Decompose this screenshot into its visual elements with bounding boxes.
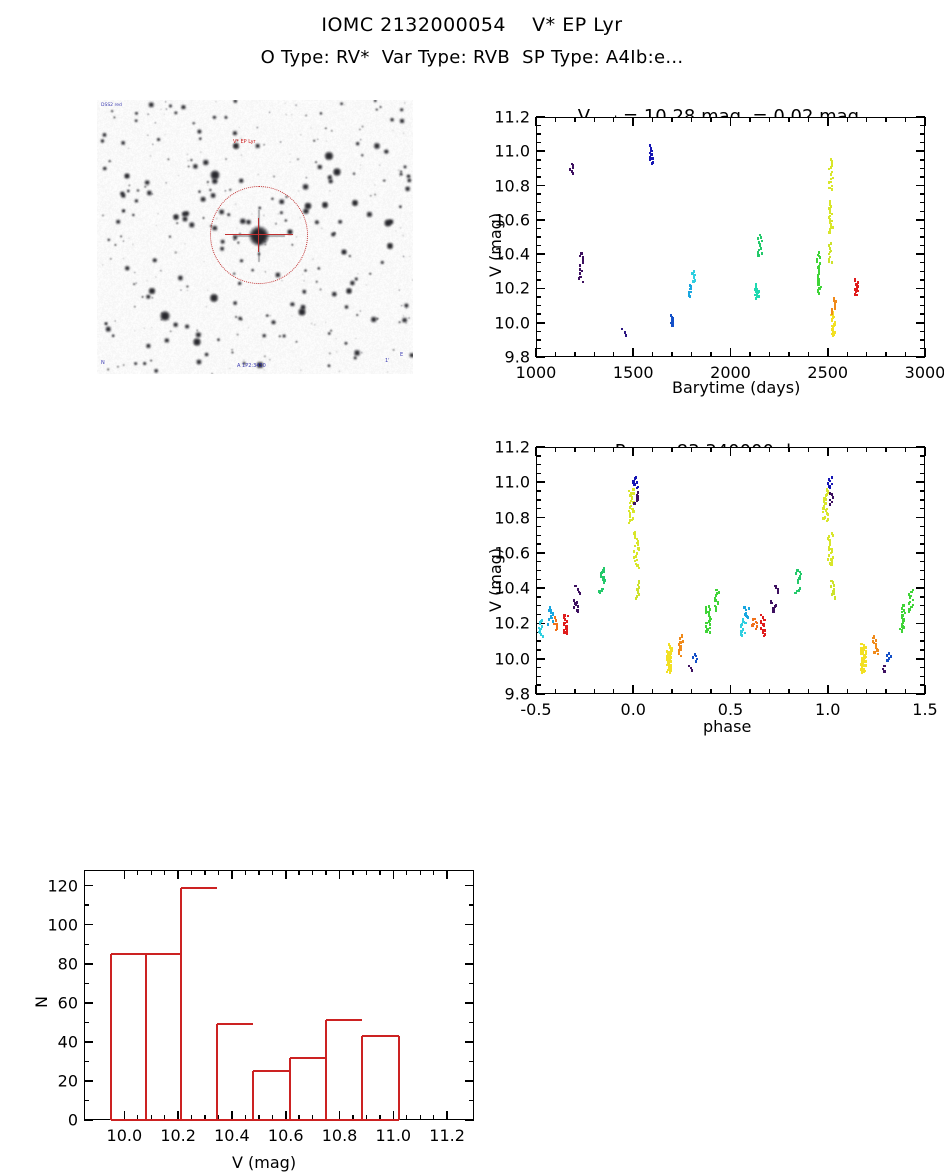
x-tick-minor (555, 689, 556, 694)
y-tick-label: 10.2 (470, 614, 530, 633)
y-tick-major (536, 517, 545, 519)
data-point (637, 540, 639, 543)
data-point (877, 653, 879, 656)
data-point (628, 490, 630, 493)
data-point (829, 492, 831, 495)
y-tick-minor-right (920, 168, 925, 169)
data-point (630, 505, 632, 508)
x-tick-major-top (285, 870, 287, 879)
histogram-bin-edge (145, 954, 147, 1120)
data-point (748, 607, 750, 610)
data-point (565, 625, 567, 628)
data-point (554, 616, 556, 619)
y-tick-major (84, 924, 93, 926)
phase-panel: PVSX = 83.340000 days phase V (mag) -0.5… (470, 420, 944, 747)
data-point (904, 612, 906, 615)
data-point (579, 255, 581, 258)
y-tick-major (84, 1002, 93, 1004)
y-tick-label: 60 (18, 993, 78, 1012)
data-point (670, 314, 672, 317)
data-point (636, 559, 638, 562)
y-tick-minor-right (920, 649, 925, 650)
data-point (829, 247, 831, 250)
x-tick-minor-top (691, 117, 692, 122)
data-point (829, 499, 831, 502)
x-tick-minor-top (245, 870, 246, 875)
data-point (580, 252, 582, 255)
data-point (742, 621, 744, 624)
x-tick-minor-top (652, 117, 653, 122)
sky-image-panel: V* EP Lyr DSS2 red A 1P2:3430 N E 1' (97, 100, 413, 374)
x-tick-minor (671, 689, 672, 694)
data-point (875, 643, 877, 646)
y-tick-major-right (465, 924, 474, 926)
data-point (829, 181, 831, 184)
y-tick-minor (536, 202, 541, 203)
x-tick-label: 10.2 (160, 1126, 196, 1145)
data-point (670, 668, 672, 671)
x-tick-major-top (632, 117, 634, 126)
x-tick-minor-top (788, 117, 789, 122)
data-point (826, 508, 828, 511)
data-point (819, 262, 821, 265)
y-tick-minor-right (920, 464, 925, 465)
data-point (696, 658, 698, 661)
y-tick-minor-right (920, 125, 925, 126)
x-tick-minor (594, 689, 595, 694)
data-point (832, 496, 834, 499)
y-tick-minor-right (920, 535, 925, 536)
data-point (912, 599, 914, 602)
data-point (705, 609, 707, 612)
data-point (816, 260, 818, 263)
data-point (637, 491, 639, 494)
data-point (830, 250, 832, 253)
y-tick-minor-right (920, 667, 925, 668)
y-tick-label: 10.4 (470, 579, 530, 598)
y-tick-major (536, 481, 545, 483)
data-point (649, 144, 651, 147)
data-point (550, 611, 552, 614)
histogram-bin-top (217, 1023, 253, 1025)
y-tick-label: 40 (18, 1032, 78, 1051)
y-tick-minor-right (920, 676, 925, 677)
data-point (569, 168, 571, 171)
x-tick-label: 10.8 (322, 1126, 358, 1145)
data-point (553, 623, 555, 626)
data-point (638, 586, 640, 589)
x-tick-minor-top (866, 117, 867, 122)
y-tick-label: 10.6 (470, 543, 530, 562)
data-point (831, 171, 833, 174)
x-tick-major-top (231, 870, 233, 879)
data-point (579, 264, 581, 267)
x-tick-minor-top (379, 870, 380, 875)
y-tick-major (536, 356, 545, 358)
y-tick-minor (536, 614, 541, 615)
data-point (755, 621, 757, 624)
data-point (636, 481, 638, 484)
x-tick-label: 3000 (905, 363, 944, 382)
x-tick-major (730, 685, 732, 694)
data-point (883, 670, 885, 673)
data-point (770, 600, 772, 603)
x-tick-major (827, 348, 829, 357)
x-tick-major (446, 1111, 448, 1120)
data-point (827, 482, 829, 485)
data-point (828, 207, 830, 210)
x-tick-major-top (393, 870, 395, 879)
y-tick-minor (84, 944, 89, 945)
data-point (549, 606, 551, 609)
y-tick-major (536, 116, 545, 118)
phase-xlabel: phase (703, 717, 751, 736)
y-tick-minor (536, 168, 541, 169)
data-point (688, 295, 690, 298)
data-point (718, 591, 720, 594)
data-point (831, 163, 833, 166)
y-tick-minor-right (920, 176, 925, 177)
x-tick-major-top (446, 870, 448, 879)
y-tick-major (536, 552, 545, 554)
histogram-bin-edge (180, 888, 182, 1120)
x-tick-minor-top (749, 117, 750, 122)
data-point (817, 277, 819, 280)
data-point (832, 590, 834, 593)
data-point (831, 261, 833, 264)
data-point (629, 494, 631, 497)
data-point (652, 161, 654, 164)
x-tick-minor-top (312, 870, 313, 875)
x-tick-minor (905, 352, 906, 357)
y-tick-major (536, 253, 545, 255)
histogram-bin-top (362, 1035, 398, 1037)
histogram-bin-top (253, 1070, 289, 1072)
x-tick-minor (749, 689, 750, 694)
x-tick-minor (433, 1115, 434, 1120)
data-point (857, 281, 859, 284)
x-tick-minor-top (191, 870, 192, 875)
data-point (651, 157, 653, 160)
x-tick-minor (555, 352, 556, 357)
data-point (633, 550, 635, 553)
y-tick-minor (536, 640, 541, 641)
data-point (602, 579, 604, 582)
data-point (541, 625, 543, 628)
data-point (831, 220, 833, 223)
y-tick-major-right (916, 253, 925, 255)
data-point (578, 591, 580, 594)
data-point (875, 639, 877, 642)
data-point (579, 272, 581, 275)
data-point (901, 614, 903, 617)
data-point (830, 580, 832, 583)
y-tick-minor (536, 331, 541, 332)
histogram-baseline (111, 1119, 399, 1121)
x-tick-minor-top (691, 447, 692, 452)
data-point (576, 601, 578, 604)
data-point (582, 256, 584, 259)
sky-bottom-label: A 1P2:3430 (237, 363, 266, 369)
data-point (834, 307, 836, 310)
data-point (709, 631, 711, 634)
data-point (741, 623, 743, 626)
data-point (830, 242, 832, 245)
data-point (762, 616, 764, 619)
y-tick-major-right (916, 322, 925, 324)
data-point (635, 555, 637, 558)
data-point (901, 623, 903, 626)
x-tick-major-top (177, 870, 179, 879)
data-point (864, 661, 866, 664)
y-tick-minor (536, 193, 541, 194)
x-tick-minor-top (258, 870, 259, 875)
y-tick-minor (536, 605, 541, 606)
y-tick-minor-right (920, 640, 925, 641)
data-point (563, 616, 565, 619)
x-tick-minor-top (574, 117, 575, 122)
data-point (831, 185, 833, 188)
data-point (755, 283, 757, 286)
y-tick-minor-right (920, 499, 925, 500)
x-tick-minor (905, 689, 906, 694)
x-tick-minor-top (151, 870, 152, 875)
x-tick-minor-top (574, 447, 575, 452)
data-point (708, 613, 710, 616)
x-tick-minor (613, 352, 614, 357)
x-tick-minor (652, 689, 653, 694)
x-tick-minor-top (420, 870, 421, 875)
data-point (830, 548, 832, 551)
x-tick-minor-top (885, 447, 886, 452)
data-point (860, 643, 862, 646)
data-point (556, 626, 558, 629)
histogram-xlabel: V (mag) (232, 1153, 296, 1172)
data-point (579, 268, 581, 271)
x-tick-major-top (632, 447, 634, 456)
x-tick-minor (808, 689, 809, 694)
data-point (817, 274, 819, 277)
data-point (632, 492, 634, 495)
y-tick-minor (536, 313, 541, 314)
x-tick-label: 0.5 (718, 700, 743, 719)
data-point (624, 331, 626, 334)
y-tick-minor-right (920, 142, 925, 143)
data-point (601, 588, 603, 591)
y-tick-major (536, 658, 545, 660)
histogram-bin-edge (398, 1036, 400, 1120)
x-tick-label: 0.0 (621, 700, 646, 719)
data-point (540, 628, 542, 631)
data-point (714, 597, 716, 600)
data-point (762, 623, 764, 626)
x-tick-minor-top (298, 870, 299, 875)
y-tick-major-right (916, 185, 925, 187)
data-point (827, 518, 829, 521)
y-tick-minor-right (920, 526, 925, 527)
data-point (689, 284, 691, 287)
data-point (833, 297, 835, 300)
y-tick-label: 11.0 (470, 473, 530, 492)
y-tick-major-right (916, 552, 925, 554)
x-tick-minor-top (352, 870, 353, 875)
data-point (757, 251, 759, 254)
y-tick-major-right (916, 587, 925, 589)
data-point (760, 627, 762, 630)
x-tick-label: 2000 (710, 363, 751, 382)
data-point (636, 538, 638, 541)
y-tick-minor-right (920, 543, 925, 544)
data-point (694, 274, 696, 277)
data-point (705, 625, 707, 628)
data-point (820, 286, 822, 289)
sky-target-label: V* EP Lyr (233, 139, 256, 145)
data-point (774, 585, 776, 588)
y-tick-minor (536, 228, 541, 229)
data-point (632, 488, 634, 491)
data-point (829, 218, 831, 221)
y-tick-major (84, 1080, 93, 1082)
data-point (625, 334, 627, 337)
y-tick-major-right (465, 1080, 474, 1082)
x-tick-minor-top (594, 447, 595, 452)
x-tick-minor (574, 689, 575, 694)
sky-survey-label: DSS2 red (101, 103, 122, 108)
x-tick-minor (788, 352, 789, 357)
data-point (908, 593, 910, 596)
y-tick-minor-right (920, 228, 925, 229)
x-tick-minor (710, 689, 711, 694)
data-point (638, 567, 640, 570)
data-point (857, 290, 859, 293)
data-point (636, 552, 638, 555)
y-tick-minor (536, 596, 541, 597)
data-point (547, 623, 549, 626)
y-tick-label: 20 (18, 1071, 78, 1090)
y-tick-label: 11.2 (470, 108, 530, 127)
data-point (818, 265, 820, 268)
data-point (628, 510, 630, 513)
data-point (717, 601, 719, 604)
y-tick-minor-right (920, 614, 925, 615)
x-tick-minor (671, 352, 672, 357)
data-point (854, 278, 856, 281)
data-point (817, 254, 819, 257)
data-point (742, 628, 744, 631)
y-tick-minor-right (920, 455, 925, 456)
data-point (908, 611, 910, 614)
data-point (829, 256, 831, 259)
x-tick-minor-top (847, 447, 848, 452)
data-point (829, 211, 831, 214)
data-point (822, 507, 824, 510)
y-tick-minor (536, 245, 541, 246)
data-point (690, 291, 692, 294)
x-tick-minor-top (808, 117, 809, 122)
y-tick-major (84, 1119, 93, 1121)
data-point (830, 558, 832, 561)
y-tick-label: 100 (18, 915, 78, 934)
y-tick-major-right (916, 288, 925, 290)
x-tick-label: 2500 (807, 363, 848, 382)
y-tick-major-right (916, 116, 925, 118)
data-point (796, 569, 798, 572)
data-point (831, 213, 833, 216)
x-tick-minor-top (555, 447, 556, 452)
data-point (538, 627, 540, 630)
y-tick-major (536, 219, 545, 221)
histogram-bin-edge (252, 1071, 254, 1120)
data-point (574, 585, 576, 588)
y-tick-minor (536, 676, 541, 677)
data-point (573, 599, 575, 602)
x-tick-major-top (730, 447, 732, 456)
data-point (633, 483, 635, 486)
y-tick-major-right (916, 517, 925, 519)
data-point (636, 494, 638, 497)
y-tick-label: 0 (18, 1111, 78, 1130)
data-point (873, 635, 875, 638)
y-tick-minor (536, 508, 541, 509)
data-point (818, 271, 820, 274)
y-tick-minor (536, 211, 541, 212)
data-point (831, 501, 833, 504)
data-point (775, 604, 777, 607)
y-tick-minor-right (920, 339, 925, 340)
data-point (709, 623, 711, 626)
y-tick-minor-right (469, 944, 474, 945)
y-tick-major-right (916, 658, 925, 660)
x-tick-minor-top (866, 447, 867, 452)
y-tick-major (84, 885, 93, 887)
data-point (832, 226, 834, 229)
data-point (629, 512, 631, 515)
data-point (708, 605, 710, 608)
target-crosshair-vertical (258, 218, 259, 252)
data-point (831, 561, 833, 564)
data-point (834, 321, 836, 324)
data-point (829, 541, 831, 544)
data-point (826, 512, 828, 515)
data-point (832, 327, 834, 330)
data-point (756, 288, 758, 291)
y-tick-minor (536, 490, 541, 491)
data-point (634, 531, 636, 534)
data-point (890, 655, 892, 658)
y-tick-minor-right (920, 632, 925, 633)
y-tick-minor-right (469, 1022, 474, 1023)
data-point (693, 270, 695, 273)
data-point (799, 571, 801, 574)
y-tick-minor-right (920, 313, 925, 314)
histogram-panel: V (mag) N 10.010.210.410.610.811.011.202… (0, 430, 480, 747)
data-point (832, 593, 834, 596)
data-point (833, 588, 835, 591)
x-tick-label: 10.4 (214, 1126, 250, 1145)
x-tick-minor (885, 352, 886, 357)
data-point (828, 231, 830, 234)
data-point (831, 532, 833, 535)
data-point (670, 664, 672, 667)
x-tick-minor (749, 352, 750, 357)
data-point (666, 650, 668, 653)
y-tick-minor-right (920, 133, 925, 134)
x-tick-minor-top (366, 870, 367, 875)
y-tick-label: 9.8 (470, 348, 530, 367)
data-point (632, 480, 634, 483)
y-tick-minor (536, 339, 541, 340)
x-tick-minor (885, 689, 886, 694)
